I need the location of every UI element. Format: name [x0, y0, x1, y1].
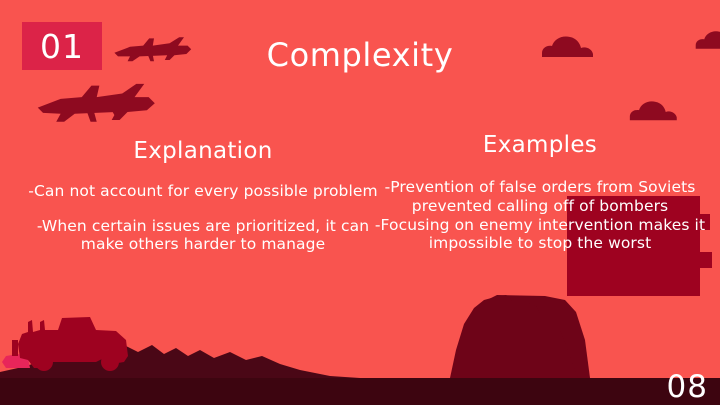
presentation-slide: 01 Complexity Explanation -Can not accou…	[0, 0, 720, 405]
bullet-item: -Prevention of false orders from Soviets…	[372, 178, 708, 215]
slide-title: Complexity	[0, 38, 720, 73]
bullet-item: -Focusing on enemy intervention makes it…	[372, 216, 708, 253]
content-column-explanation: Explanation -Can not account for every p…	[28, 138, 378, 253]
bullet-item: -When certain issues are prioritized, it…	[28, 217, 378, 254]
page-number: 08	[667, 372, 708, 403]
content-column-examples: Examples -Prevention of false orders fro…	[372, 132, 708, 254]
ground-band	[0, 378, 720, 405]
bullet-item: -Can not account for every possible prob…	[28, 182, 378, 200]
column-heading-explanation: Explanation	[28, 138, 378, 164]
column-heading-examples: Examples	[372, 132, 708, 158]
